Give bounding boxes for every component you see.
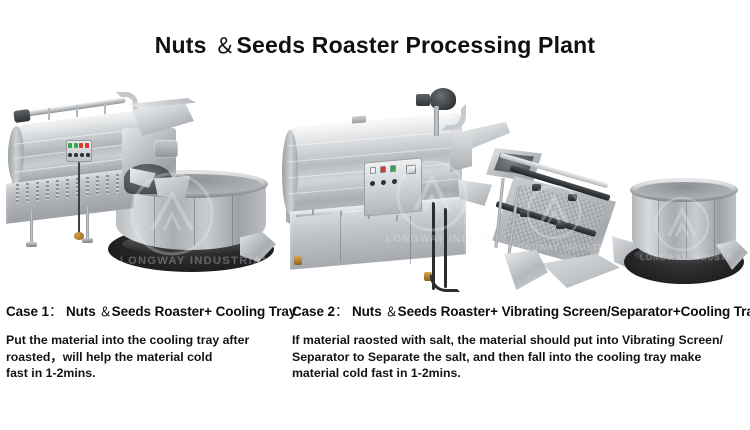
- case-1-body-line: Put the material into the cooling tray a…: [6, 332, 292, 349]
- indicator-lamp-red: [380, 166, 386, 174]
- case-2-body-line: Separator to Separate the salt, and then…: [292, 349, 748, 366]
- case-1-heading: Case 1： Nuts ＆Seeds Roaster+ Cooling Tra…: [6, 300, 292, 320]
- roaster-top-vent: [352, 115, 366, 123]
- push-button: [74, 153, 78, 157]
- case-1-label: Case 1: [6, 304, 49, 319]
- page-title-part2: Seeds Roaster Processing Plant: [236, 32, 595, 58]
- equipment-vibrating-screen-separator: LONGWAY INDUSTRIAL: [486, 146, 630, 298]
- pipe-bracket: [48, 108, 50, 120]
- equipment-nuts-seeds-roaster: LONGWAY INDUSTRIAL: [4, 84, 282, 296]
- drive-gearbox: [154, 140, 178, 158]
- push-button: [68, 153, 72, 157]
- pipe-bracket: [76, 105, 78, 117]
- case-2-separator: ：: [335, 304, 348, 319]
- indicator-lamp-white: [370, 167, 376, 175]
- temperature-meter: [406, 165, 416, 175]
- machine-leg-foot: [26, 242, 37, 247]
- exhaust-fan-motor: [13, 109, 31, 123]
- equipment-photo-strip: LONGWAY INDUSTRIAL: [0, 76, 750, 298]
- outfeed-side-wall: [450, 130, 472, 172]
- page-title-part1: Nuts: [155, 32, 207, 58]
- case-2-heading-part1: Nuts: [352, 304, 382, 319]
- indicator-lamp-green: [74, 143, 78, 148]
- blower-duct: [442, 104, 466, 130]
- page-title: Nuts ＆Seeds Roaster Processing Plant: [0, 30, 750, 60]
- ampersand-glyph: ＆: [99, 305, 111, 319]
- cooling-tray-seam: [686, 196, 687, 258]
- blower-motor: [416, 94, 430, 106]
- case-1-body: Put the material into the cooling tray a…: [6, 332, 292, 382]
- caster-wheel: [294, 256, 302, 265]
- cooling-tray-interior: [636, 182, 732, 199]
- equipment-nuts-seeds-roaster-large: LONGWAY INDUSTRIAL: [282, 82, 510, 298]
- push-button: [392, 179, 397, 184]
- control-panel-buttons: [68, 153, 90, 157]
- gas-valve: [74, 232, 84, 240]
- case-1-body-line: roasted，will help the material cold: [6, 349, 292, 366]
- screen-base-plate: [542, 254, 620, 288]
- push-button: [80, 153, 84, 157]
- power-cable: [78, 162, 80, 234]
- push-button: [370, 181, 375, 186]
- case-2-label: Case 2: [292, 304, 335, 319]
- machine-leg-foot: [82, 238, 93, 243]
- case-2-body: If material raosted with salt, the mater…: [292, 332, 748, 382]
- exhaust-stack: [434, 106, 439, 136]
- indicator-lamp-green: [390, 165, 396, 173]
- screen-discharge-chute: [504, 250, 548, 290]
- ampersand-glyph: ＆: [213, 34, 236, 58]
- cooling-tray-seam: [658, 196, 659, 258]
- case-2-block: Case 2： Nuts ＆Seeds Roaster+ Vibrating S…: [292, 300, 748, 382]
- equipment-cooling-tray-right: LONGWAY INDUSTRIAL: [620, 166, 748, 296]
- case-2-heading-part2: Seeds Roaster+ Vibrating Screen/Separato…: [398, 304, 750, 319]
- case-2-body-line: If material raosted with salt, the mater…: [292, 332, 748, 349]
- ampersand-glyph: ＆: [385, 305, 397, 319]
- screen-clamp: [532, 184, 541, 191]
- case-2-body-line: material cold fast in 1-2mins.: [292, 365, 748, 382]
- push-button: [86, 153, 90, 157]
- case-1-separator: ：: [49, 304, 62, 319]
- push-button: [381, 180, 386, 185]
- pipe-bracket: [104, 102, 106, 114]
- machine-leg: [30, 210, 33, 244]
- control-panel-indicators: [68, 143, 89, 148]
- indicator-lamp-red: [79, 143, 83, 148]
- screen-clamp: [568, 194, 577, 201]
- screen-clamp: [556, 222, 565, 229]
- machine-leg: [86, 206, 89, 240]
- case-1-block: Case 1： Nuts ＆Seeds Roaster+ Cooling Tra…: [6, 300, 292, 382]
- case-2-heading: Case 2： Nuts ＆Seeds Roaster+ Vibrating S…: [292, 300, 748, 320]
- case-1-body-line: fast in 1-2mins.: [6, 365, 292, 382]
- case-1-heading-part2: Seeds Roaster+ Cooling Tray: [112, 304, 297, 319]
- case-1-heading-part1: Nuts: [66, 304, 96, 319]
- cooling-tray-seam: [714, 196, 715, 258]
- indicator-lamp-green: [68, 143, 72, 148]
- screen-clamp: [520, 210, 529, 217]
- indicator-lamp-red: [85, 143, 89, 148]
